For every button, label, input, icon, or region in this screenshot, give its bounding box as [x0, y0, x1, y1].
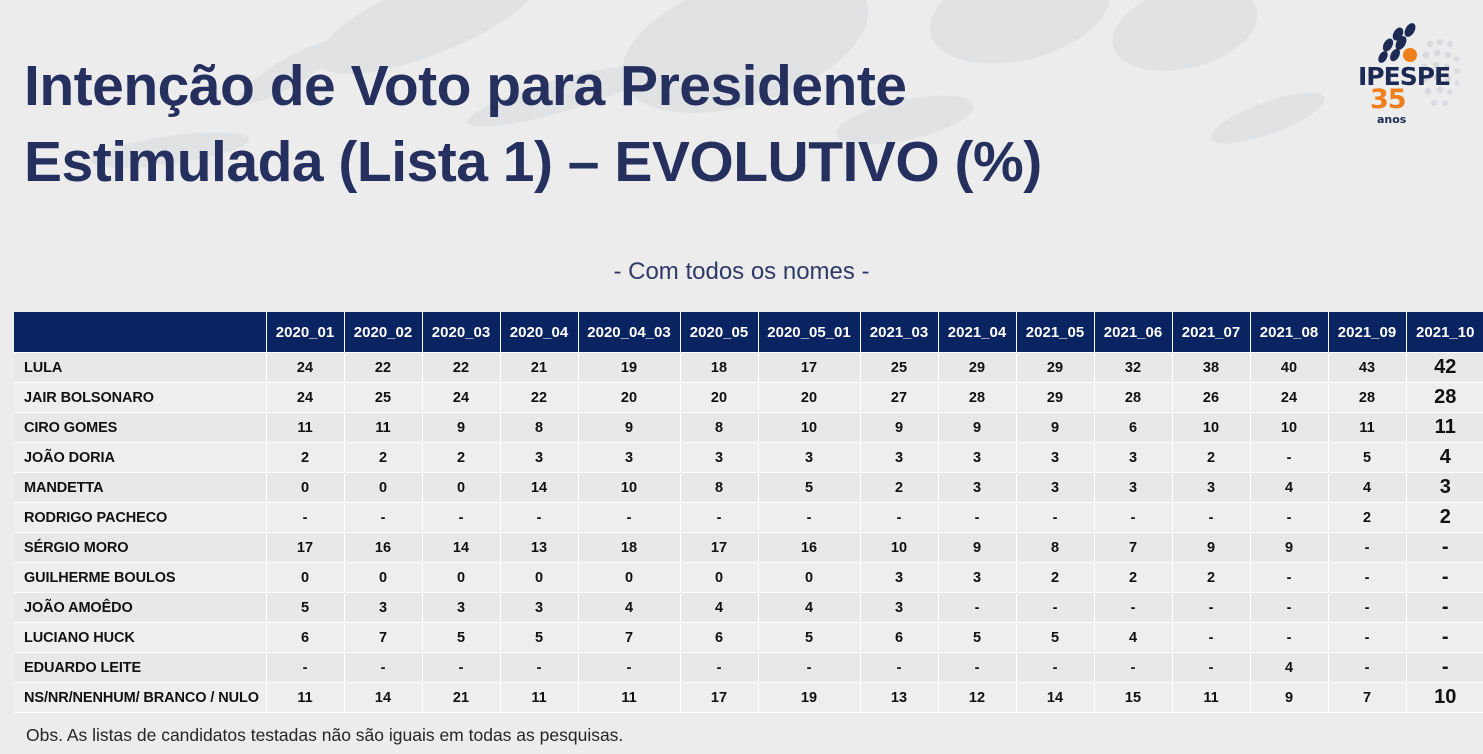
cell-value: - — [938, 503, 1016, 533]
cell-value: 10 — [1250, 413, 1328, 443]
row-label: NS/NR/NENHUM/ BRANCO / NULO — [14, 683, 266, 713]
cell-value: 14 — [344, 683, 422, 713]
cell-value: 11 — [500, 683, 578, 713]
cell-value: 11 — [578, 683, 680, 713]
cell-value: 9 — [1016, 413, 1094, 443]
cell-value: - — [500, 503, 578, 533]
cell-value: 27 — [860, 383, 938, 413]
footnote: Obs. As listas de candidatos testadas nã… — [26, 725, 623, 746]
cell-value: - — [1016, 653, 1094, 683]
cell-value: 24 — [1250, 383, 1328, 413]
orange-dot-icon — [1403, 48, 1417, 62]
subtitle: - Com todos os nomes - — [0, 258, 1483, 286]
table-row: EDUARDO LEITE------------4-- — [14, 653, 1483, 683]
cell-value: 6 — [1094, 413, 1172, 443]
cell-value: 4 — [758, 593, 860, 623]
row-label: MANDETTA — [14, 473, 266, 503]
cell-value: 17 — [680, 533, 758, 563]
cell-value: 2 — [1328, 503, 1406, 533]
cell-value: 6 — [680, 623, 758, 653]
column-header-2020_02: 2020_02 — [344, 312, 422, 353]
cell-value: - — [1328, 533, 1406, 563]
cell-value: 3 — [1094, 443, 1172, 473]
cell-value: 2 — [266, 443, 344, 473]
cell-value: 38 — [1172, 353, 1250, 383]
cell-value: 25 — [860, 353, 938, 383]
cell-value: 8 — [500, 413, 578, 443]
cell-value: 11 — [344, 413, 422, 443]
cell-value: 0 — [422, 473, 500, 503]
cell-value: 9 — [422, 413, 500, 443]
cell-value: 2 — [1406, 503, 1483, 533]
cell-value: 5 — [1328, 443, 1406, 473]
cell-value: 8 — [680, 473, 758, 503]
cell-value: 4 — [1406, 443, 1483, 473]
cell-value: 15 — [1094, 683, 1172, 713]
cell-value: 11 — [1328, 413, 1406, 443]
cell-value: 28 — [1094, 383, 1172, 413]
cell-value: 20 — [758, 383, 860, 413]
cell-value: 32 — [1094, 353, 1172, 383]
cell-value: - — [680, 653, 758, 683]
cell-value: 0 — [266, 563, 344, 593]
column-header-2021_07: 2021_07 — [1172, 312, 1250, 353]
cell-value: 28 — [1328, 383, 1406, 413]
cell-value: 3 — [860, 563, 938, 593]
cell-value: - — [938, 653, 1016, 683]
cell-value: 9 — [1250, 533, 1328, 563]
cell-value: 19 — [758, 683, 860, 713]
cell-value: 14 — [422, 533, 500, 563]
ipespe-logo: IPESPE 35 anos — [1352, 14, 1470, 132]
cell-value: 9 — [938, 413, 1016, 443]
cell-value: - — [1328, 563, 1406, 593]
row-label: CIRO GOMES — [14, 413, 266, 443]
cell-value: 11 — [1406, 413, 1483, 443]
table-row: LULA242222211918172529293238404342 — [14, 353, 1483, 383]
poll-table-container: 2020_012020_022020_032020_042020_04_0320… — [14, 312, 1469, 713]
cell-value: - — [1328, 623, 1406, 653]
cell-value: - — [1016, 503, 1094, 533]
cell-value: 40 — [1250, 353, 1328, 383]
cell-value: - — [1172, 653, 1250, 683]
cell-value: 26 — [1172, 383, 1250, 413]
table-row: LUCIANO HUCK67557656554---- — [14, 623, 1483, 653]
table-header: 2020_012020_022020_032020_042020_04_0320… — [14, 312, 1483, 353]
cell-value: 18 — [578, 533, 680, 563]
cell-value: 0 — [422, 563, 500, 593]
cell-value: 22 — [500, 383, 578, 413]
cell-value: - — [1328, 593, 1406, 623]
cell-value: 0 — [344, 563, 422, 593]
cell-value: 0 — [758, 563, 860, 593]
cell-value: 0 — [680, 563, 758, 593]
cell-value: - — [938, 593, 1016, 623]
cell-value: - — [860, 503, 938, 533]
cell-value: - — [1406, 533, 1483, 563]
cell-value: 5 — [422, 623, 500, 653]
cell-value: 0 — [578, 563, 680, 593]
cell-value: 17 — [680, 683, 758, 713]
table-row: CIRO GOMES1111989810999610101111 — [14, 413, 1483, 443]
cell-value: 2 — [344, 443, 422, 473]
cell-value: 18 — [680, 353, 758, 383]
column-header-2021_05: 2021_05 — [1016, 312, 1094, 353]
cell-value: 29 — [1016, 383, 1094, 413]
cell-value: - — [266, 653, 344, 683]
cell-value: 3 — [500, 443, 578, 473]
cell-value: 3 — [500, 593, 578, 623]
column-header-2021_04: 2021_04 — [938, 312, 1016, 353]
cell-value: 4 — [578, 593, 680, 623]
cell-value: 3 — [1172, 473, 1250, 503]
cell-value: 0 — [344, 473, 422, 503]
cell-value: 3 — [938, 473, 1016, 503]
cell-value: - — [578, 503, 680, 533]
cell-value: 42 — [1406, 353, 1483, 383]
cell-value: 3 — [680, 443, 758, 473]
table-body: LULA242222211918172529293238404342JAIR B… — [14, 353, 1483, 713]
cell-value: - — [1172, 503, 1250, 533]
table-row: NS/NR/NENHUM/ BRANCO / NULO1114211111171… — [14, 683, 1483, 713]
cell-value: 4 — [1250, 473, 1328, 503]
cell-value: 21 — [422, 683, 500, 713]
cell-value: 5 — [758, 623, 860, 653]
cell-value: - — [1250, 563, 1328, 593]
cell-value: 29 — [938, 353, 1016, 383]
column-header-2021_10: 2021_10 — [1406, 312, 1483, 353]
cell-value: 5 — [938, 623, 1016, 653]
cell-value: 3 — [1016, 473, 1094, 503]
cell-value: 3 — [758, 443, 860, 473]
cell-value: - — [422, 503, 500, 533]
cell-value: 10 — [578, 473, 680, 503]
cell-value: - — [1406, 593, 1483, 623]
row-label: RODRIGO PACHECO — [14, 503, 266, 533]
cell-value: 3 — [860, 593, 938, 623]
cell-value: 7 — [578, 623, 680, 653]
cell-value: - — [1250, 443, 1328, 473]
cell-value: - — [1328, 653, 1406, 683]
cell-value: 6 — [266, 623, 344, 653]
cell-value: - — [1172, 623, 1250, 653]
cell-value: - — [1250, 623, 1328, 653]
row-label: LUCIANO HUCK — [14, 623, 266, 653]
column-header-2021_09: 2021_09 — [1328, 312, 1406, 353]
poll-results-table: 2020_012020_022020_032020_042020_04_0320… — [14, 312, 1483, 713]
cell-value: 14 — [500, 473, 578, 503]
cell-value: - — [680, 503, 758, 533]
cell-value: - — [758, 653, 860, 683]
cell-value: - — [1094, 593, 1172, 623]
cell-value: - — [1016, 593, 1094, 623]
cell-value: 14 — [1016, 683, 1094, 713]
cell-value: 22 — [344, 353, 422, 383]
cell-value: 25 — [344, 383, 422, 413]
cell-value: 5 — [500, 623, 578, 653]
cell-value: 10 — [1406, 683, 1483, 713]
cell-value: 24 — [266, 383, 344, 413]
column-header-2020_04_03: 2020_04_03 — [578, 312, 680, 353]
cell-value: - — [1094, 653, 1172, 683]
cell-value: 6 — [860, 623, 938, 653]
table-corner-cell — [14, 312, 266, 353]
column-header-2021_08: 2021_08 — [1250, 312, 1328, 353]
cell-value: 17 — [266, 533, 344, 563]
cell-value: 13 — [500, 533, 578, 563]
cell-value: 9 — [938, 533, 1016, 563]
logo-anniversary-unit: anos — [1377, 113, 1447, 126]
cell-value: 28 — [1406, 383, 1483, 413]
cell-value: 9 — [1172, 533, 1250, 563]
cell-value: 3 — [938, 443, 1016, 473]
cell-value: 3 — [1016, 443, 1094, 473]
cell-value: 5 — [758, 473, 860, 503]
cell-value: 9 — [578, 413, 680, 443]
cell-value: 21 — [500, 353, 578, 383]
page-title: Intenção de Voto para Presidente Estimul… — [24, 48, 1204, 201]
column-header-2021_03: 2021_03 — [860, 312, 938, 353]
cell-value: 7 — [344, 623, 422, 653]
cell-value: 22 — [422, 353, 500, 383]
column-header-2020_03: 2020_03 — [422, 312, 500, 353]
row-label: JAIR BOLSONARO — [14, 383, 266, 413]
cell-value: 5 — [266, 593, 344, 623]
cell-value: 16 — [758, 533, 860, 563]
cell-value: 11 — [266, 683, 344, 713]
cell-value: 3 — [938, 563, 1016, 593]
column-header-2020_01: 2020_01 — [266, 312, 344, 353]
cell-value: 10 — [860, 533, 938, 563]
cell-value: 7 — [1094, 533, 1172, 563]
table-row: JAIR BOLSONARO24252422202020272829282624… — [14, 383, 1483, 413]
cell-value: 2 — [422, 443, 500, 473]
cell-value: 4 — [1328, 473, 1406, 503]
table-row: JOÃO AMOÊDO53334443------- — [14, 593, 1483, 623]
cell-value: 11 — [1172, 683, 1250, 713]
cell-value: - — [758, 503, 860, 533]
table-row: SÉRGIO MORO171614131817161098799-- — [14, 533, 1483, 563]
cell-value: - — [860, 653, 938, 683]
cell-value: 4 — [1250, 653, 1328, 683]
row-label: GUILHERME BOULOS — [14, 563, 266, 593]
cell-value: - — [1406, 563, 1483, 593]
row-label: JOÃO AMOÊDO — [14, 593, 266, 623]
cell-value: 20 — [680, 383, 758, 413]
cell-value: 2 — [1172, 563, 1250, 593]
cell-value: 0 — [500, 563, 578, 593]
row-label: JOÃO DORIA — [14, 443, 266, 473]
cell-value: - — [1250, 503, 1328, 533]
cell-value: 2 — [1094, 563, 1172, 593]
cell-value: 24 — [266, 353, 344, 383]
cell-value: 5 — [1016, 623, 1094, 653]
cell-value: - — [266, 503, 344, 533]
cell-value: 11 — [266, 413, 344, 443]
cell-value: 9 — [860, 413, 938, 443]
cell-value: - — [1172, 593, 1250, 623]
logo-anniversary-number: 35 — [1370, 84, 1440, 115]
cell-value: 28 — [938, 383, 1016, 413]
cell-value: 4 — [680, 593, 758, 623]
cell-value: 2 — [1016, 563, 1094, 593]
cell-value: 3 — [578, 443, 680, 473]
row-label: LULA — [14, 353, 266, 383]
cell-value: 2 — [860, 473, 938, 503]
cell-value: - — [1406, 653, 1483, 683]
cell-value: 10 — [1172, 413, 1250, 443]
cell-value: 12 — [938, 683, 1016, 713]
cell-value: - — [422, 653, 500, 683]
header: Intenção de Voto para Presidente Estimul… — [0, 0, 1483, 230]
cell-value: - — [1250, 593, 1328, 623]
table-row: JOÃO DORIA222333333332-54 — [14, 443, 1483, 473]
cell-value: 29 — [1016, 353, 1094, 383]
cell-value: 3 — [344, 593, 422, 623]
cell-value: 8 — [680, 413, 758, 443]
cell-value: 9 — [1250, 683, 1328, 713]
cell-value: 3 — [1094, 473, 1172, 503]
cell-value: 2 — [1172, 443, 1250, 473]
cell-value: 3 — [1406, 473, 1483, 503]
row-label: SÉRGIO MORO — [14, 533, 266, 563]
cell-value: 43 — [1328, 353, 1406, 383]
table-header-row: 2020_012020_022020_032020_042020_04_0320… — [14, 312, 1483, 353]
column-header-2020_04: 2020_04 — [500, 312, 578, 353]
cell-value: 7 — [1328, 683, 1406, 713]
cell-value: 0 — [266, 473, 344, 503]
cell-value: - — [578, 653, 680, 683]
column-header-2021_06: 2021_06 — [1094, 312, 1172, 353]
cell-value: - — [1094, 503, 1172, 533]
cell-value: 20 — [578, 383, 680, 413]
cell-value: 24 — [422, 383, 500, 413]
cell-value: 10 — [758, 413, 860, 443]
table-row: GUILHERME BOULOS000000033222--- — [14, 563, 1483, 593]
cell-value: 19 — [578, 353, 680, 383]
table-row: MANDETTA00014108523333443 — [14, 473, 1483, 503]
cell-value: 13 — [860, 683, 938, 713]
column-header-2020_05_01: 2020_05_01 — [758, 312, 860, 353]
cell-value: - — [1406, 623, 1483, 653]
cell-value: 8 — [1016, 533, 1094, 563]
cell-value: 17 — [758, 353, 860, 383]
cell-value: 4 — [1094, 623, 1172, 653]
cell-value: - — [344, 503, 422, 533]
cell-value: 16 — [344, 533, 422, 563]
column-header-2020_05: 2020_05 — [680, 312, 758, 353]
cell-value: - — [344, 653, 422, 683]
cell-value: 3 — [422, 593, 500, 623]
row-label: EDUARDO LEITE — [14, 653, 266, 683]
cell-value: - — [500, 653, 578, 683]
table-row: RODRIGO PACHECO-------------22 — [14, 503, 1483, 533]
cell-value: 3 — [860, 443, 938, 473]
